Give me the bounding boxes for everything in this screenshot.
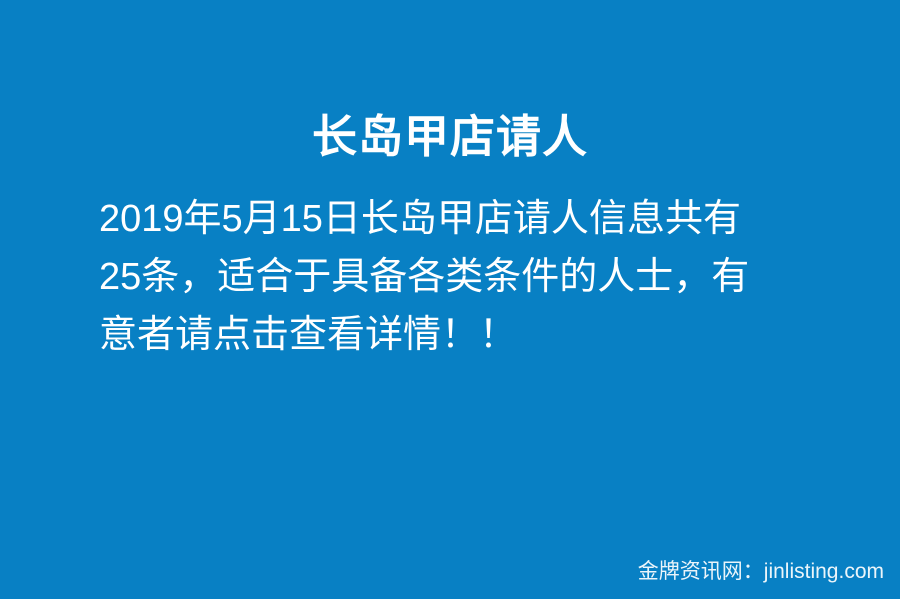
poster-canvas: 长岛甲店请人 2019年5月15日长岛甲店请人信息共有 25条，适合于具备各类条… [0,0,900,599]
description-line-3: 意者请点击查看详情！！ [99,306,805,364]
description-line-2: 25条，适合于具备各类条件的人士，有 [99,248,805,306]
description-line-1: 2019年5月15日长岛甲店请人信息共有 [99,190,805,248]
page-title: 长岛甲店请人 [0,108,900,166]
site-watermark: 金牌资讯网：jinlisting.com [638,559,884,585]
poster-description: 2019年5月15日长岛甲店请人信息共有 25条，适合于具备各类条件的人士，有 … [99,190,805,364]
